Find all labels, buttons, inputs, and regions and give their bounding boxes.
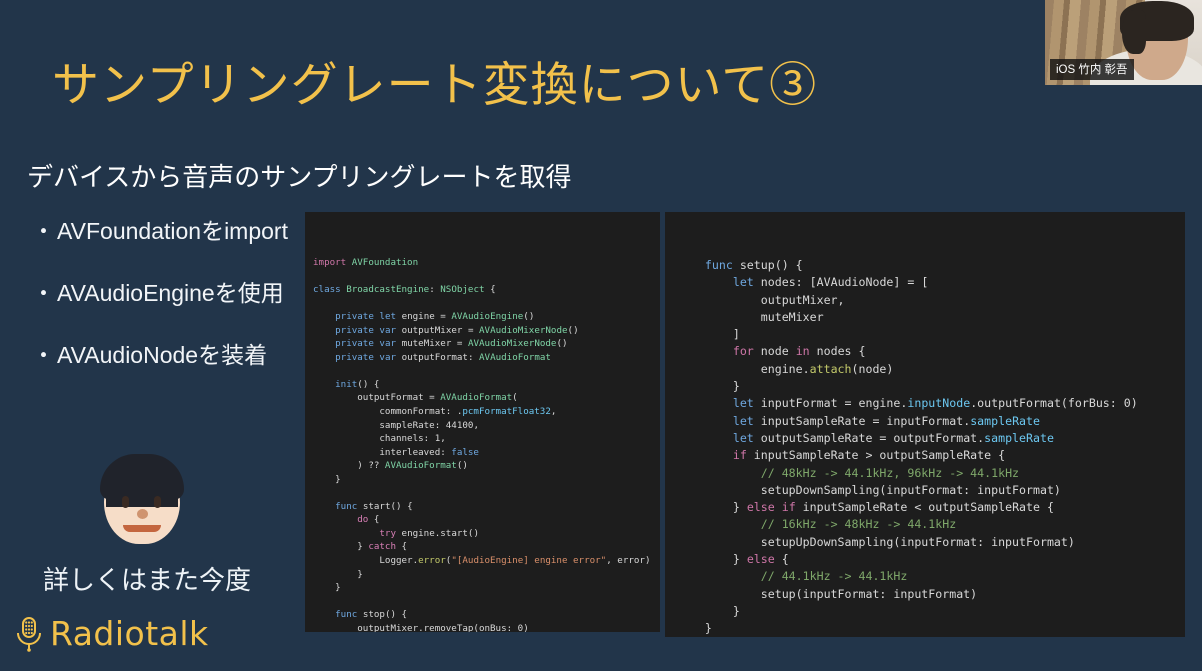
list-item-label: AVAudioNodeを装着 xyxy=(57,342,267,368)
webcam-video-thumbnail[interactable]: iOS 竹内 彰吾 xyxy=(1045,0,1202,85)
page-title: サンプリングレート変換について③ xyxy=(52,58,817,112)
avatar-nose xyxy=(137,509,148,519)
avatar-hair xyxy=(100,454,184,500)
webcam-person-hair-side xyxy=(1122,10,1146,54)
list-item: ・AVFoundationをimport xyxy=(32,212,302,246)
avatar-mouth xyxy=(123,525,161,532)
code-block-right: func setup() { let nodes: [AVAudioNode] … xyxy=(665,212,1185,637)
avatar-caption: 詳しくはまた今度 xyxy=(42,560,252,597)
bullet-marker: ・ xyxy=(32,218,55,244)
code-left-content: import AVFoundation class BroadcastEngin… xyxy=(305,250,660,632)
webcam-name-label: iOS 竹内 彰吾 xyxy=(1050,59,1134,80)
list-item-label: AVAudioEngineを使用 xyxy=(57,280,284,306)
list-item: ・AVAudioNodeを装着 xyxy=(32,336,302,370)
radiotalk-logo: Radiotalk xyxy=(14,614,209,653)
code-block-left: import AVFoundation class BroadcastEngin… xyxy=(305,212,660,632)
avatar-eye-right xyxy=(154,496,161,508)
code-right-content: func setup() { let nodes: [AVAudioNode] … xyxy=(665,250,1185,637)
list-item: ・AVAudioEngineを使用 xyxy=(32,274,302,308)
bullet-marker: ・ xyxy=(32,280,55,306)
bullet-list: ・AVFoundationをimport ・AVAudioEngineを使用 ・… xyxy=(32,212,302,398)
list-item-label: AVFoundationをimport xyxy=(57,218,288,244)
slide-subtitle: デバイスから音声のサンプリングレートを取得 xyxy=(27,157,571,194)
microphone-icon xyxy=(14,616,44,652)
presentation-slide: サンプリングレート変換について③ デバイスから音声のサンプリングレートを取得 ・… xyxy=(0,0,1202,671)
boy-face-emoji-icon xyxy=(96,452,188,544)
logo-text: Radiotalk xyxy=(50,614,209,653)
bullet-marker: ・ xyxy=(32,342,55,368)
avatar-eye-left xyxy=(122,496,129,508)
